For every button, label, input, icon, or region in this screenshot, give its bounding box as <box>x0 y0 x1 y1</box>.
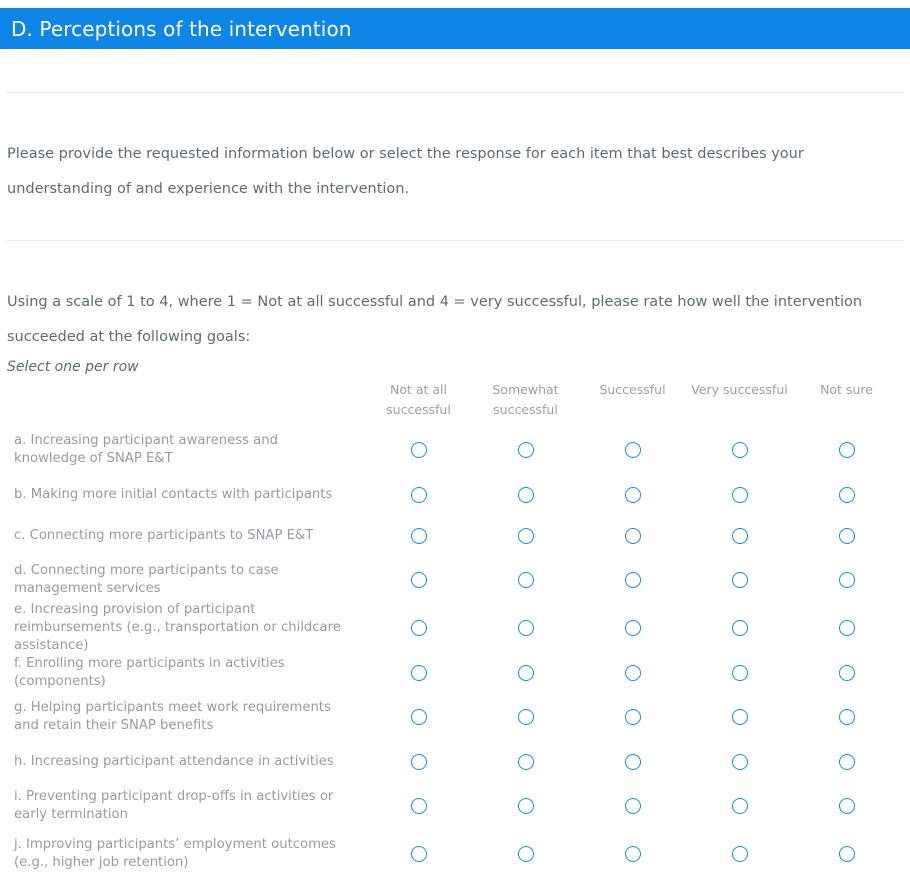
table-row: e. Increasing provision of participant r… <box>0 604 910 652</box>
radio-cell[interactable] <box>365 798 472 814</box>
radio-button-row-6-col-4[interactable] <box>839 709 855 725</box>
column-header-somewhat-successful: Somewhat successful <box>472 380 579 420</box>
select-one-per-row-hint: Select one per row <box>7 357 867 377</box>
matrix-row-label: i. Preventing participant drop-offs in a… <box>0 788 365 824</box>
radio-button-row-3-col-1[interactable] <box>518 572 534 588</box>
table-row: i. Preventing participant drop-offs in a… <box>0 782 910 830</box>
radio-button-row-9-col-1[interactable] <box>518 846 534 862</box>
radio-cell[interactable] <box>579 665 686 681</box>
rating-matrix: Not at all successful Somewhat successfu… <box>0 380 910 878</box>
radio-cell[interactable] <box>793 528 900 544</box>
intro-block: Please provide the requested information… <box>7 137 867 207</box>
radio-cell[interactable] <box>686 528 793 544</box>
intro-text: Please provide the requested information… <box>7 137 867 207</box>
radio-cell[interactable] <box>365 620 472 636</box>
divider-middle <box>6 240 904 241</box>
radio-cell[interactable] <box>472 572 579 588</box>
matrix-row-label: b. Making more initial contacts with par… <box>0 486 365 504</box>
radio-cell[interactable] <box>579 846 686 862</box>
radio-cell[interactable] <box>686 798 793 814</box>
radio-button-row-3-col-4[interactable] <box>839 572 855 588</box>
radio-button-row-4-col-0[interactable] <box>411 620 427 636</box>
radio-cell[interactable] <box>472 528 579 544</box>
column-header-successful: Successful <box>579 380 686 400</box>
radio-button-row-9-col-3[interactable] <box>732 846 748 862</box>
radio-cell[interactable] <box>686 709 793 725</box>
radio-button-row-7-col-1[interactable] <box>518 754 534 770</box>
table-row: h. Increasing participant attendance in … <box>0 741 910 782</box>
radio-button-row-6-col-2[interactable] <box>625 709 641 725</box>
radio-cell[interactable] <box>793 665 900 681</box>
radio-button-row-0-col-1[interactable] <box>518 442 534 458</box>
radio-button-row-4-col-4[interactable] <box>839 620 855 636</box>
question-prompt: Using a scale of 1 to 4, where 1 = Not a… <box>7 285 867 355</box>
section-banner: D. Perceptions of the intervention <box>0 8 910 49</box>
table-row: b. Making more initial contacts with par… <box>0 474 910 515</box>
radio-cell[interactable] <box>686 442 793 458</box>
radio-cell[interactable] <box>579 528 686 544</box>
radio-button-row-1-col-1[interactable] <box>518 487 534 503</box>
radio-cell[interactable] <box>365 709 472 725</box>
radio-cell[interactable] <box>365 572 472 588</box>
table-row: f. Enrolling more participants in activi… <box>0 652 910 693</box>
radio-button-row-0-col-3[interactable] <box>732 442 748 458</box>
radio-button-row-0-col-4[interactable] <box>839 442 855 458</box>
table-row: j. Improving participants’ employment ou… <box>0 830 910 878</box>
radio-button-row-2-col-3[interactable] <box>732 528 748 544</box>
radio-cell[interactable] <box>472 798 579 814</box>
radio-cell[interactable] <box>365 754 472 770</box>
radio-button-row-8-col-2[interactable] <box>625 798 641 814</box>
radio-button-row-6-col-0[interactable] <box>411 709 427 725</box>
radio-button-row-3-col-3[interactable] <box>732 572 748 588</box>
radio-cell[interactable] <box>579 620 686 636</box>
radio-cell[interactable] <box>472 442 579 458</box>
radio-button-row-1-col-4[interactable] <box>839 487 855 503</box>
radio-cell[interactable] <box>365 846 472 862</box>
radio-cell[interactable] <box>472 709 579 725</box>
radio-button-row-9-col-4[interactable] <box>839 846 855 862</box>
radio-button-row-7-col-4[interactable] <box>839 754 855 770</box>
radio-cell[interactable] <box>579 798 686 814</box>
radio-cell[interactable] <box>472 846 579 862</box>
radio-cell[interactable] <box>579 487 686 503</box>
radio-cell[interactable] <box>365 665 472 681</box>
radio-cell[interactable] <box>472 665 579 681</box>
radio-button-row-6-col-1[interactable] <box>518 709 534 725</box>
radio-cell[interactable] <box>686 754 793 770</box>
radio-button-row-9-col-2[interactable] <box>625 846 641 862</box>
table-row: d. Connecting more participants to case … <box>0 556 910 604</box>
matrix-column-headers: Not at all successful Somewhat successfu… <box>0 380 910 426</box>
radio-cell[interactable] <box>793 487 900 503</box>
matrix-row-label: e. Increasing provision of participant r… <box>0 601 365 655</box>
column-header-very-successful: Very successful <box>686 380 793 400</box>
divider-top <box>6 92 904 93</box>
radio-cell[interactable] <box>686 487 793 503</box>
question-block: Using a scale of 1 to 4, where 1 = Not a… <box>7 285 867 377</box>
radio-button-row-7-col-0[interactable] <box>411 754 427 770</box>
radio-button-row-4-col-3[interactable] <box>732 620 748 636</box>
matrix-row-label: a. Increasing participant awareness and … <box>0 432 365 468</box>
radio-cell[interactable] <box>793 846 900 862</box>
radio-cell[interactable] <box>686 620 793 636</box>
radio-cell[interactable] <box>686 846 793 862</box>
radio-button-row-8-col-1[interactable] <box>518 798 534 814</box>
radio-button-row-3-col-0[interactable] <box>411 572 427 588</box>
radio-button-row-5-col-4[interactable] <box>839 665 855 681</box>
matrix-row-label: f. Enrolling more participants in activi… <box>0 655 365 691</box>
radio-cell[interactable] <box>579 442 686 458</box>
column-header-not-at-all-successful: Not at all successful <box>365 380 472 420</box>
radio-cell[interactable] <box>365 528 472 544</box>
radio-button-row-8-col-4[interactable] <box>839 798 855 814</box>
radio-button-row-1-col-3[interactable] <box>732 487 748 503</box>
matrix-row-label: c. Connecting more participants to SNAP … <box>0 527 365 545</box>
radio-cell[interactable] <box>793 754 900 770</box>
radio-cell[interactable] <box>686 665 793 681</box>
radio-cell[interactable] <box>365 487 472 503</box>
radio-cell[interactable] <box>793 620 900 636</box>
radio-button-row-7-col-2[interactable] <box>625 754 641 770</box>
radio-button-row-2-col-1[interactable] <box>518 528 534 544</box>
radio-cell[interactable] <box>793 709 900 725</box>
page-title: D. Perceptions of the intervention <box>0 19 352 39</box>
radio-button-row-5-col-2[interactable] <box>625 665 641 681</box>
radio-button-row-4-col-1[interactable] <box>518 620 534 636</box>
radio-button-row-1-col-0[interactable] <box>411 487 427 503</box>
radio-button-row-5-col-1[interactable] <box>518 665 534 681</box>
matrix-row-label: d. Connecting more participants to case … <box>0 562 365 598</box>
radio-cell[interactable] <box>472 620 579 636</box>
radio-button-row-4-col-2[interactable] <box>625 620 641 636</box>
radio-cell[interactable] <box>686 572 793 588</box>
radio-button-row-8-col-0[interactable] <box>411 798 427 814</box>
radio-cell[interactable] <box>579 572 686 588</box>
radio-button-row-0-col-2[interactable] <box>625 442 641 458</box>
radio-button-row-1-col-2[interactable] <box>625 487 641 503</box>
radio-button-row-3-col-2[interactable] <box>625 572 641 588</box>
radio-cell[interactable] <box>579 709 686 725</box>
radio-cell[interactable] <box>472 487 579 503</box>
table-row: c. Connecting more participants to SNAP … <box>0 515 910 556</box>
radio-cell[interactable] <box>472 754 579 770</box>
matrix-row-label: j. Improving participants’ employment ou… <box>0 836 365 872</box>
radio-button-row-9-col-0[interactable] <box>411 846 427 862</box>
radio-cell[interactable] <box>793 572 900 588</box>
radio-button-row-7-col-3[interactable] <box>732 754 748 770</box>
column-header-not-sure: Not sure <box>793 380 900 400</box>
radio-button-row-6-col-3[interactable] <box>732 709 748 725</box>
radio-button-row-5-col-0[interactable] <box>411 665 427 681</box>
radio-button-row-5-col-3[interactable] <box>732 665 748 681</box>
radio-button-row-2-col-2[interactable] <box>625 528 641 544</box>
radio-cell[interactable] <box>579 754 686 770</box>
radio-cell[interactable] <box>793 442 900 458</box>
matrix-row-label: h. Increasing participant attendance in … <box>0 753 365 771</box>
radio-cell[interactable] <box>793 798 900 814</box>
radio-button-row-8-col-3[interactable] <box>732 798 748 814</box>
radio-button-row-0-col-0[interactable] <box>411 442 427 458</box>
matrix-row-label: g. Helping participants meet work requir… <box>0 699 365 735</box>
radio-cell[interactable] <box>365 442 472 458</box>
radio-button-row-2-col-4[interactable] <box>839 528 855 544</box>
matrix-rows: a. Increasing participant awareness and … <box>0 426 910 878</box>
radio-button-row-2-col-0[interactable] <box>411 528 427 544</box>
table-row: g. Helping participants meet work requir… <box>0 693 910 741</box>
table-row: a. Increasing participant awareness and … <box>0 426 910 474</box>
